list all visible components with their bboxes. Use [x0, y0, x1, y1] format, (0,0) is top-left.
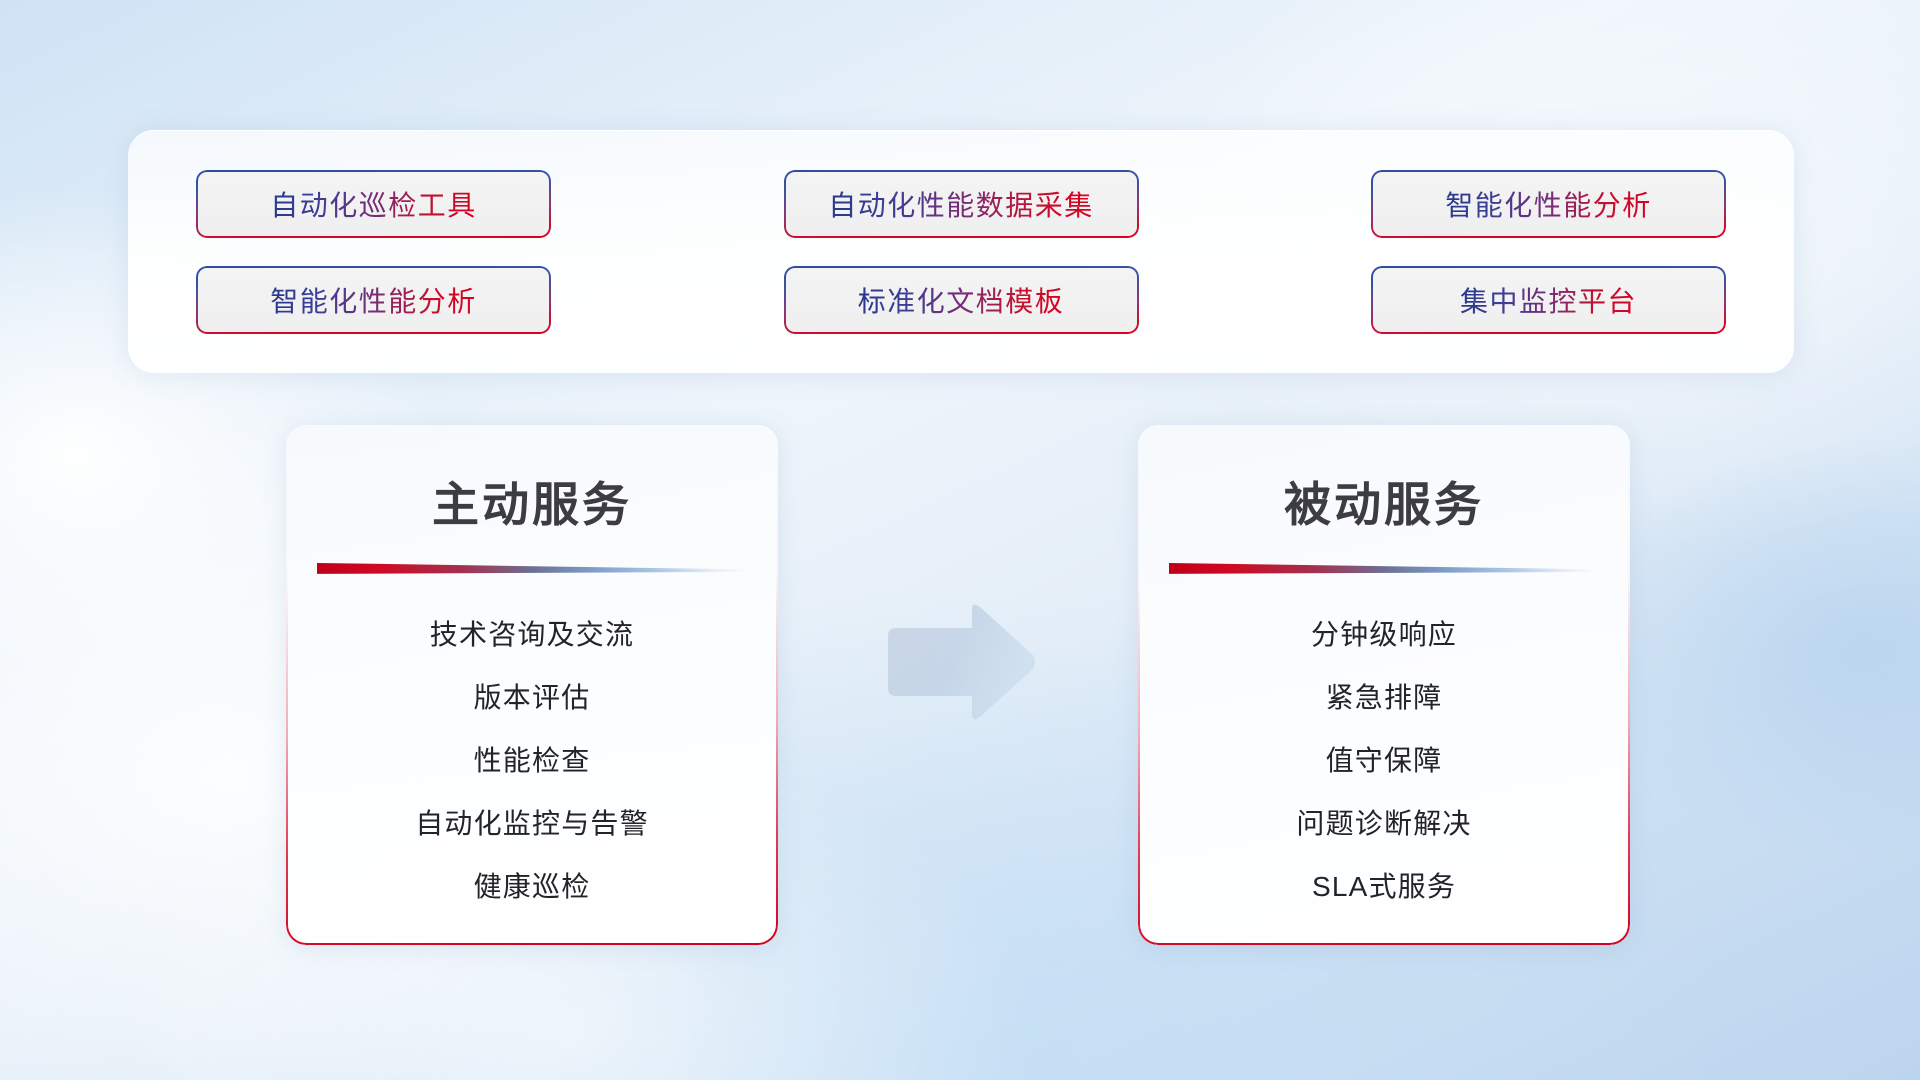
tag-chip-0-1[interactable]: 自动化性能数据采集	[784, 170, 1139, 238]
list-item: 值守保障	[1326, 739, 1443, 779]
capability-tag-panel: 自动化巡检工具 自动化性能数据采集 智能化性能分析 智能化性能分析 标准化文档模…	[128, 130, 1794, 373]
tag-chip-0-2[interactable]: 智能化性能分析	[1371, 170, 1726, 238]
card-title: 主动服务	[286, 466, 778, 535]
list-item: 性能检查	[474, 739, 591, 779]
list-item: 健康巡检	[474, 865, 591, 905]
list-item: 紧急排障	[1326, 676, 1443, 716]
card-item-list: 分钟级响应 紧急排障 值守保障 问题诊断解决 SLA式服务	[1138, 613, 1630, 905]
tag-row-1: 自动化巡检工具 自动化性能数据采集 智能化性能分析	[196, 170, 1726, 238]
tag-chip-1-1[interactable]: 标准化文档模板	[784, 266, 1139, 334]
tag-chip-1-2[interactable]: 集中监控平台	[1371, 266, 1726, 334]
card-divider	[1169, 561, 1599, 575]
list-item: SLA式服务	[1312, 865, 1456, 905]
tag-chip-label: 智能化性能分析	[1445, 184, 1652, 224]
tag-chip-label: 自动化性能数据采集	[828, 184, 1094, 224]
page-root: 自动化巡检工具 自动化性能数据采集 智能化性能分析 智能化性能分析 标准化文档模…	[0, 0, 1920, 1080]
service-card-reactive: 被动服务 分钟级响应 紧急排障 值守保障 问题诊断解决 SLA式服务	[1138, 425, 1630, 945]
tag-chip-label: 集中监控平台	[1460, 280, 1637, 320]
tag-chip-0-0[interactable]: 自动化巡检工具	[196, 170, 551, 238]
list-item: 分钟级响应	[1311, 613, 1457, 653]
tag-row-2: 智能化性能分析 标准化文档模板 集中监控平台	[196, 266, 1726, 334]
list-item: 问题诊断解决	[1296, 802, 1471, 842]
tag-chip-label: 自动化巡检工具	[270, 184, 477, 224]
list-item: 版本评估	[474, 676, 591, 716]
tag-chip-label: 智能化性能分析	[270, 280, 477, 320]
card-divider	[317, 561, 747, 575]
list-item: 自动化监控与告警	[415, 802, 649, 842]
list-item: 技术咨询及交流	[430, 613, 634, 653]
right-arrow-icon	[880, 600, 1038, 724]
tag-chip-label: 标准化文档模板	[858, 280, 1065, 320]
tag-chip-1-0[interactable]: 智能化性能分析	[196, 266, 551, 334]
service-card-proactive: 主动服务 技术咨询及交流 版本评估 性能检查 自动化监控与告警 健康巡检	[286, 425, 778, 945]
card-title: 被动服务	[1138, 466, 1630, 535]
card-item-list: 技术咨询及交流 版本评估 性能检查 自动化监控与告警 健康巡检	[286, 613, 778, 905]
